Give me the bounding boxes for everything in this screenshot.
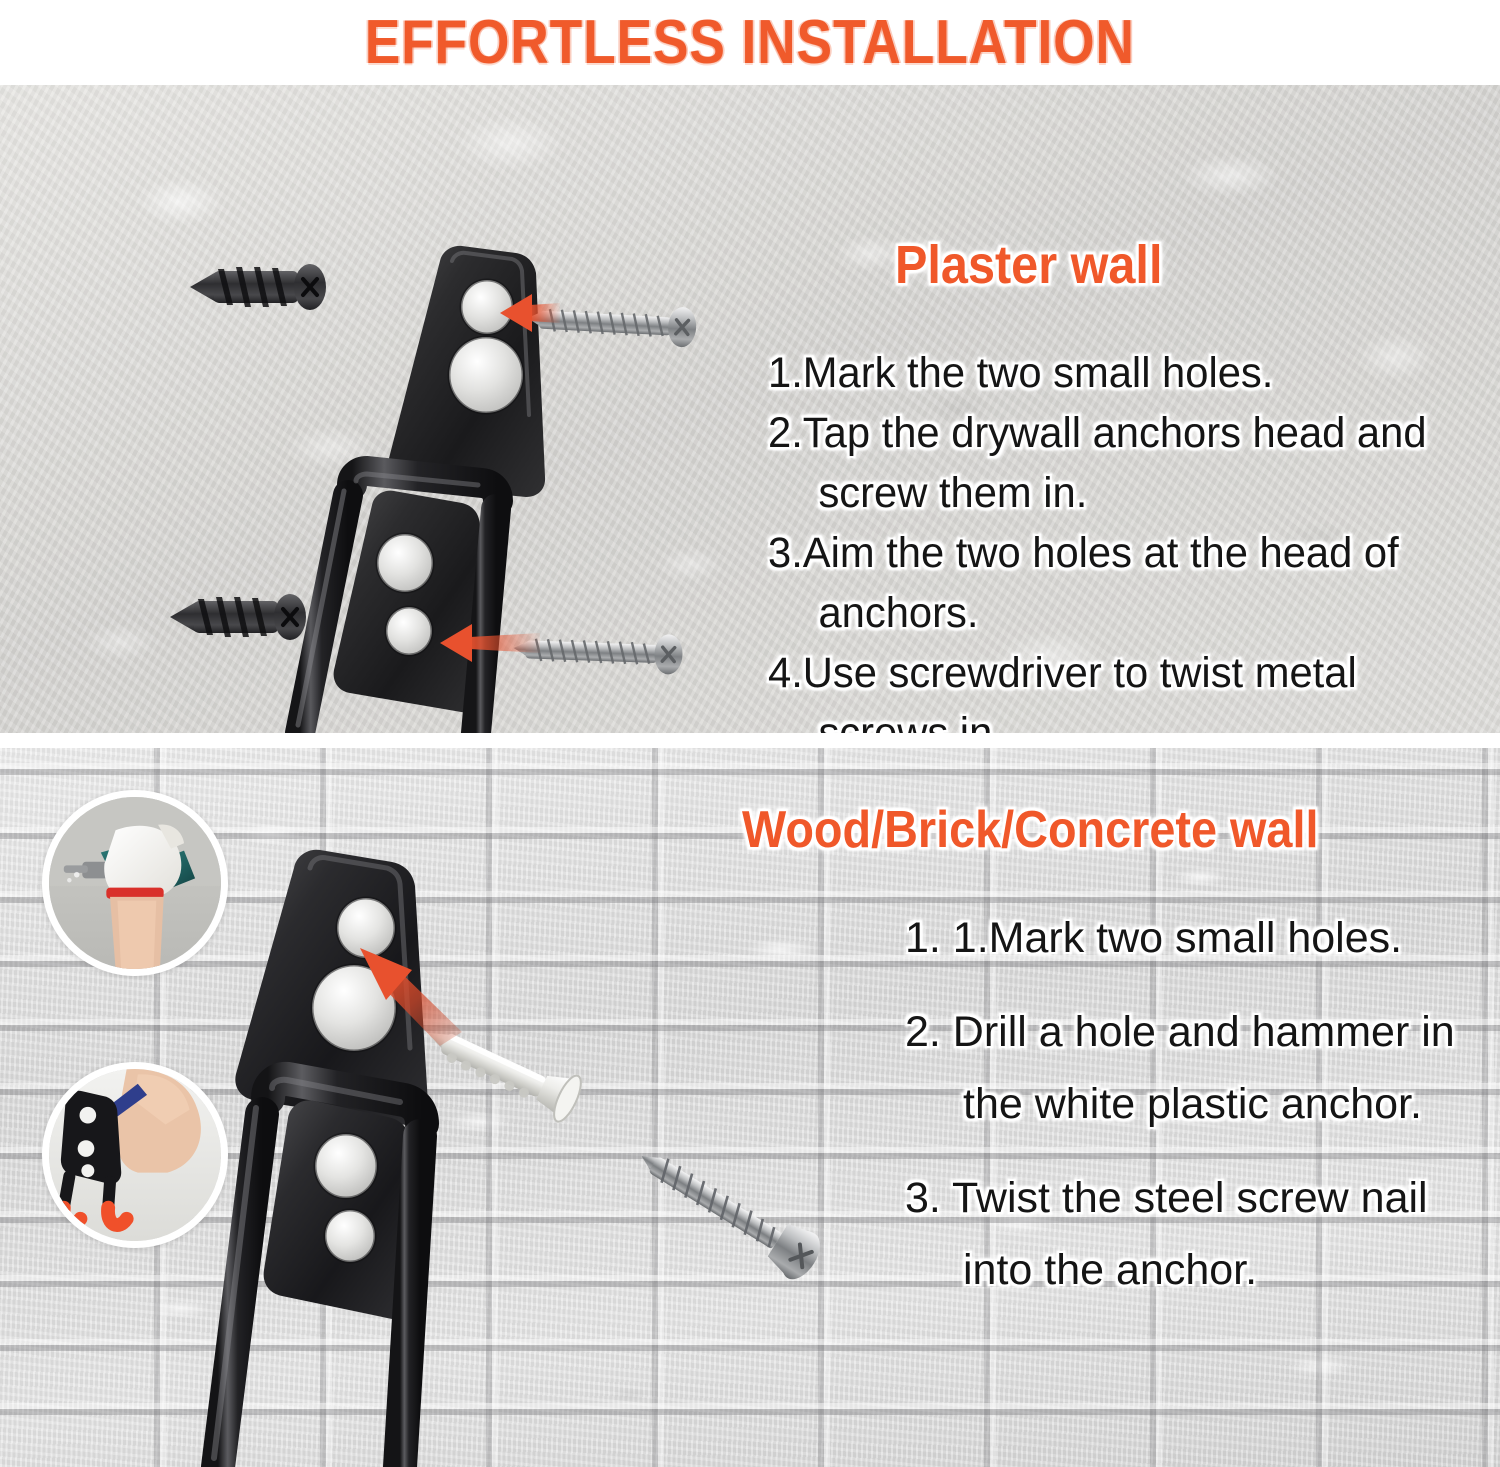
wall-hook-bracket-masonry (214, 850, 428, 1467)
masonry-step-3: 3. Twist the steel screw nail into the a… (905, 1162, 1465, 1306)
panel-divider (0, 733, 1500, 748)
masonry-step-2: 2. Drill a hole and hammer in the white … (905, 996, 1465, 1140)
wall-hook-bracket (298, 246, 545, 733)
plaster-wall-steps: 1.Mark the two small holes. 2.Tap the dr… (768, 343, 1458, 733)
wood-screw (628, 1134, 828, 1286)
masonry-wall-steps: 1. 1.Mark two small holes. 2. Drill a ho… (905, 902, 1465, 1328)
masonry-step-1: 1. 1.Mark two small holes. (905, 902, 1465, 974)
panel-plaster-wall: Plaster wall 1.Mark the two small holes.… (0, 85, 1500, 733)
marking-holes-photo (42, 1062, 228, 1248)
plaster-step-2: 2.Tap the drywall anchors head and screw… (768, 403, 1437, 523)
masonry-wall-heading: Wood/Brick/Concrete wall (742, 800, 1318, 860)
plaster-step-4: 4.Use screwdriver to twist metal screws … (768, 643, 1437, 733)
plaster-step-1: 1.Mark the two small holes. (768, 343, 1437, 403)
plaster-step-3: 3.Aim the two holes at the head of ancho… (768, 523, 1437, 643)
page-title: EFFORTLESS INSTALLATION (365, 12, 1135, 74)
drilling-hole-photo (42, 790, 228, 976)
title-bar: EFFORTLESS INSTALLATION (0, 0, 1500, 85)
infographic-page: EFFORTLESS INSTALLATION (0, 0, 1500, 1467)
drywall-anchor-upper (190, 264, 326, 310)
plaster-wall-heading: Plaster wall (895, 235, 1162, 295)
drywall-anchor-lower (170, 594, 306, 640)
panel-masonry-wall: Wood/Brick/Concrete wall 1. 1.Mark two s… (0, 748, 1500, 1467)
